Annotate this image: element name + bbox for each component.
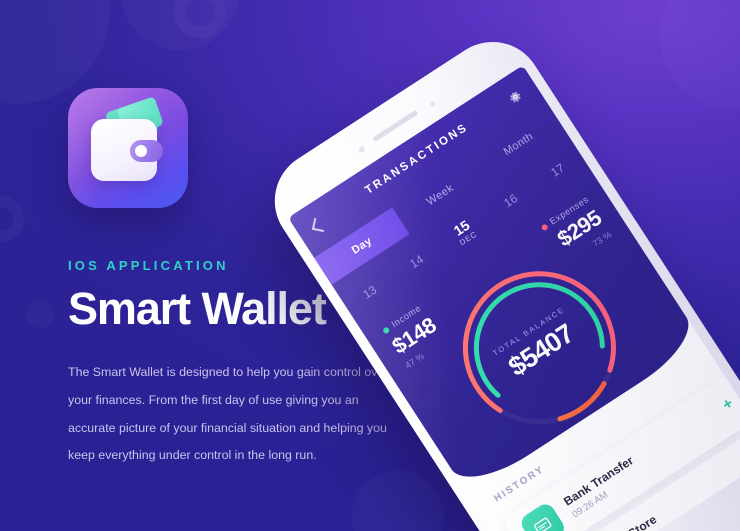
decor-ring-1 <box>174 0 226 38</box>
wallet-clasp-dot-icon <box>135 145 147 157</box>
decor-circle-2 <box>120 0 240 50</box>
decor-circle-3 <box>26 300 54 328</box>
poster-stage: IOS APPLICATION Smart Wallet The Smart W… <box>0 0 740 531</box>
wallet-app-icon <box>68 88 188 208</box>
decor-circle-5 <box>660 0 740 110</box>
bank-card-icon <box>518 501 568 531</box>
phone-front-camera <box>358 145 366 153</box>
decor-ring-2 <box>0 196 24 242</box>
phone-proximity-sensor <box>429 100 436 107</box>
add-transaction-button[interactable]: + <box>720 395 738 415</box>
